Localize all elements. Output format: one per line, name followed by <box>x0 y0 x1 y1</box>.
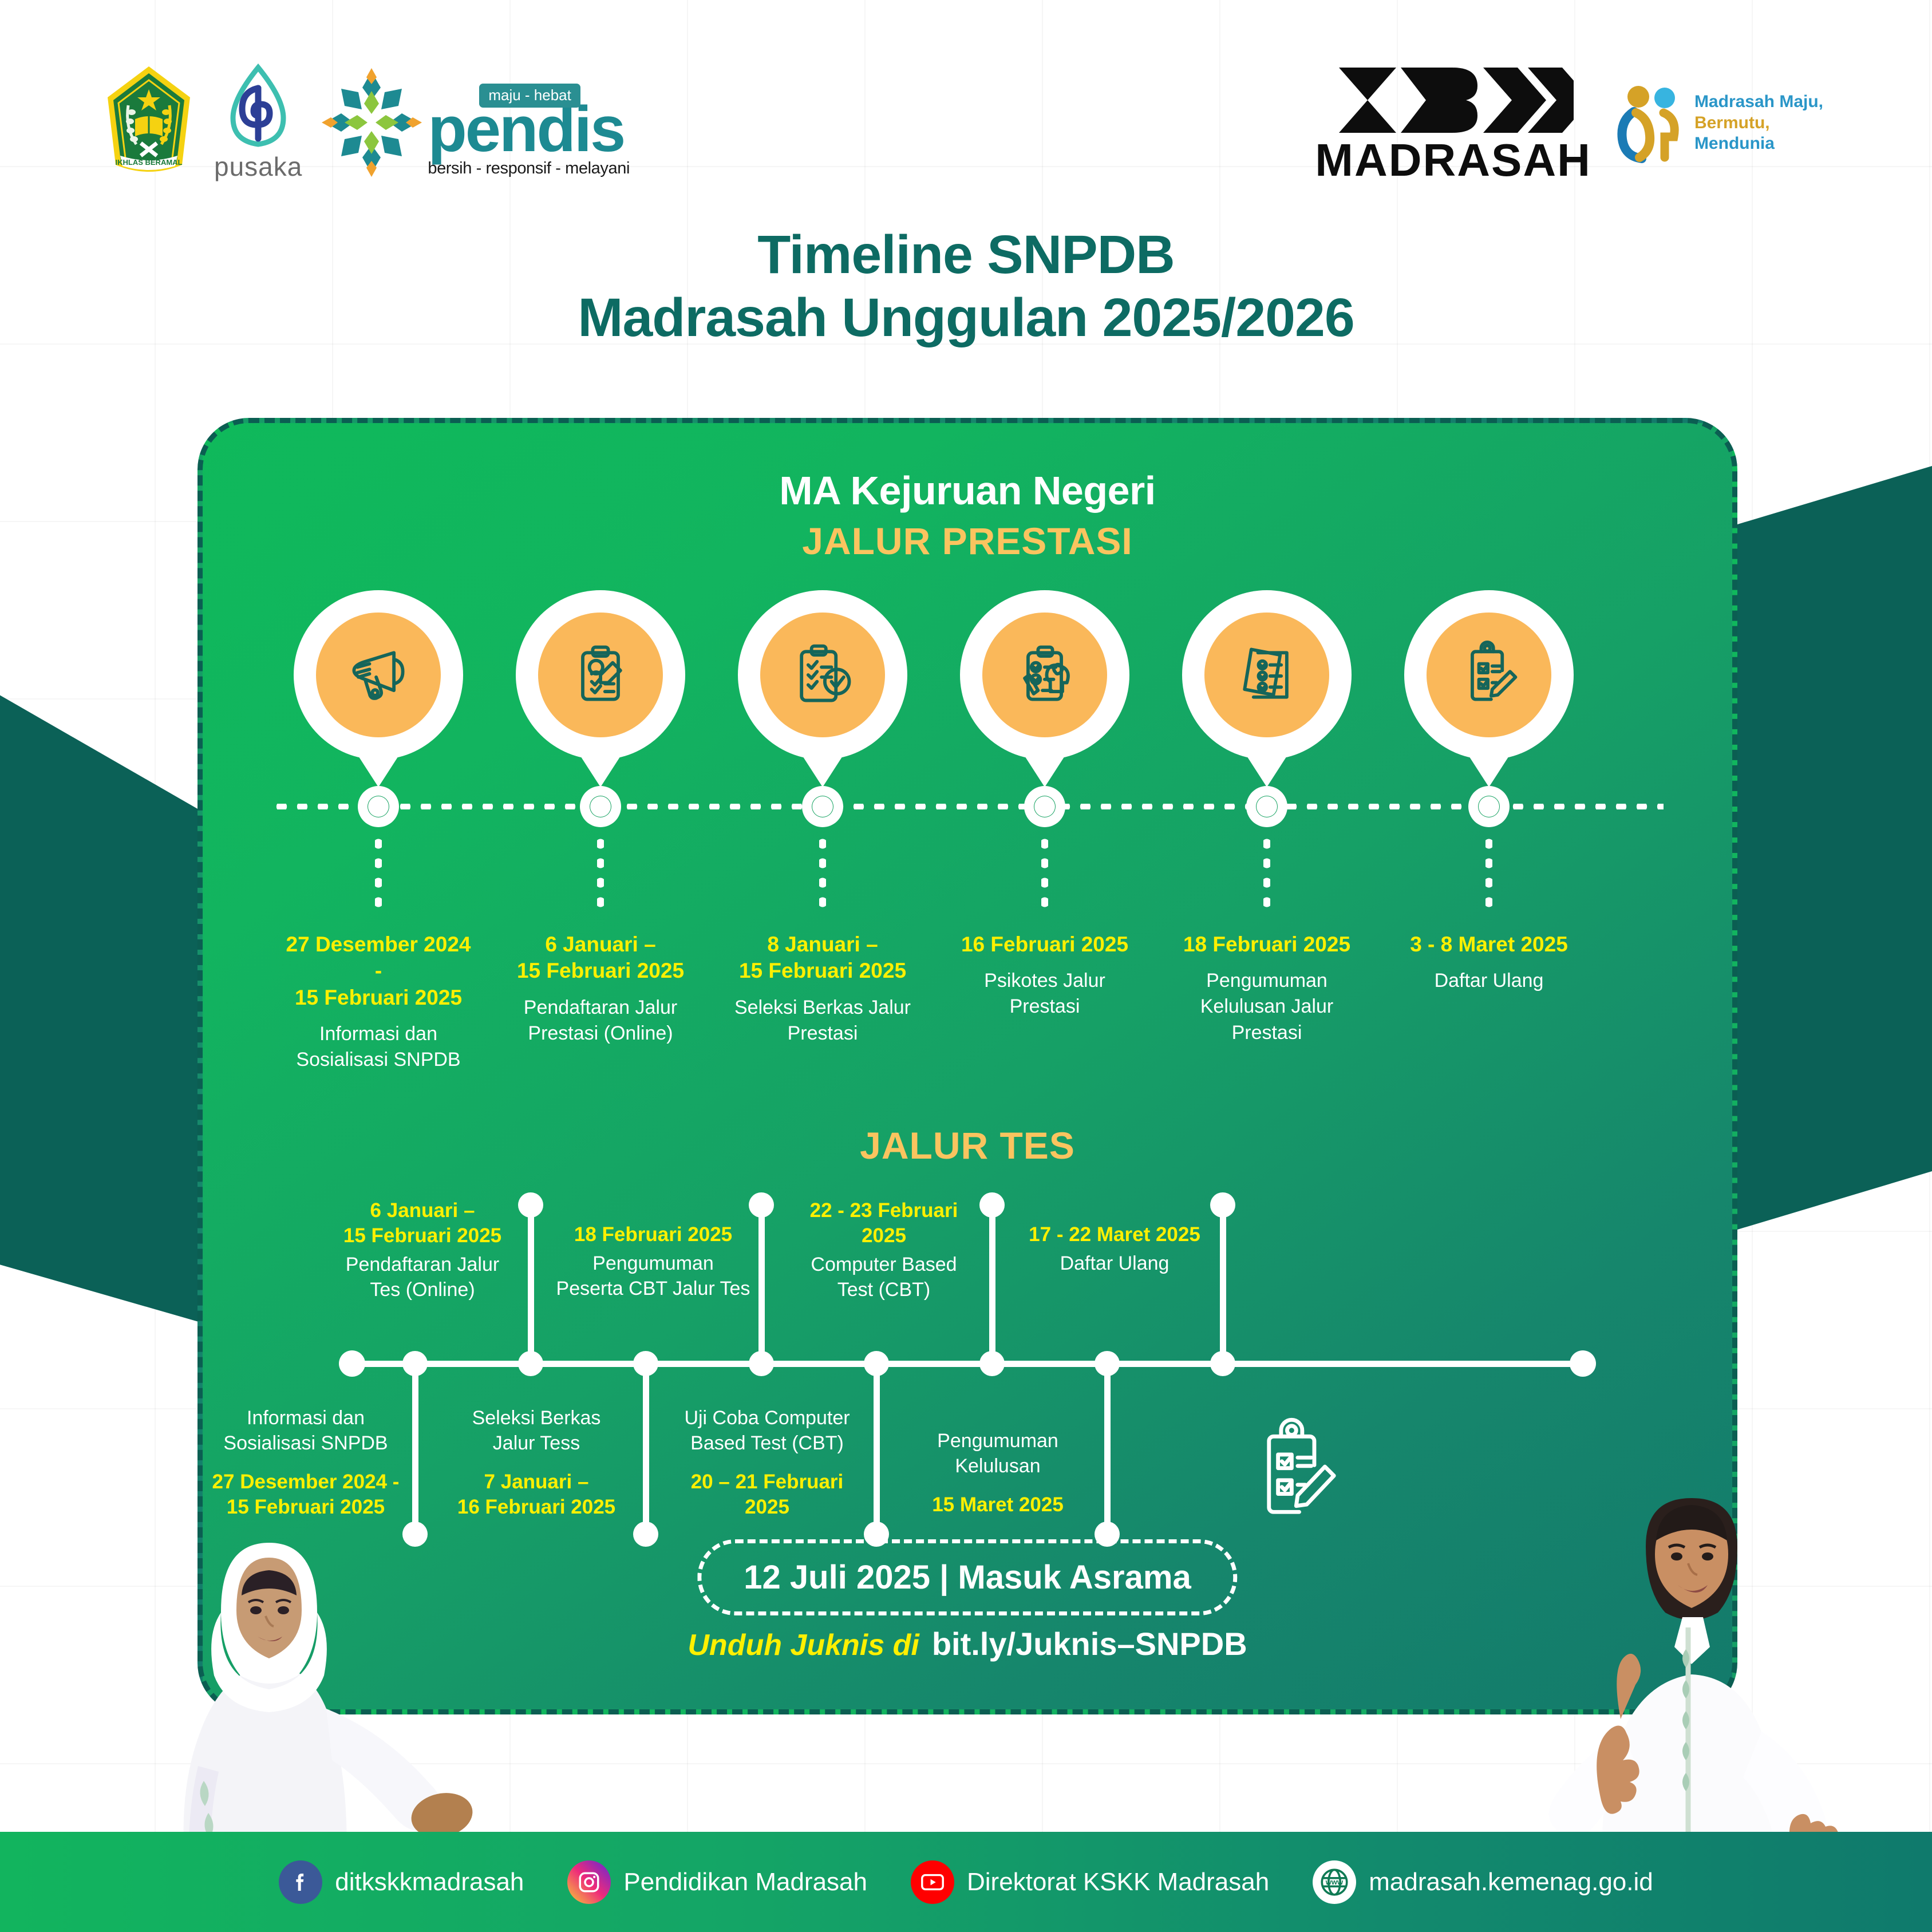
svg-text:IKHLAS BERAMAL: IKHLAS BERAMAL <box>116 158 183 167</box>
track-node-4 <box>1024 786 1065 827</box>
tes-knob-bot-2 <box>633 1522 658 1547</box>
prestasi-label-5: 18 Februari 2025 PengumumanKelulusan Jal… <box>1172 931 1361 1046</box>
prestasi-pin-3 <box>737 590 908 760</box>
tes-axis-node-6 <box>979 1351 1005 1376</box>
prestasi-pin-2 <box>515 590 686 760</box>
tes-axis-node-3 <box>633 1351 658 1376</box>
prestasi-date-3: 8 Januari –15 Februari 2025 <box>728 931 917 985</box>
juknis-line: Unduh Juknis di bit.ly/Juknis–SNPDB <box>688 1625 1247 1662</box>
tes-heading: JALUR TES <box>203 1124 1732 1167</box>
website-icon[interactable]: www <box>1313 1860 1356 1904</box>
tes-axis-node-2 <box>518 1351 543 1376</box>
madrasah-maju-logo: Madrasah Maju, Bermutu, Mendunia <box>1617 83 1823 163</box>
prestasi-label-4: 16 Februari 2025 Psikotes JalurPrestasi <box>950 931 1139 1020</box>
track-node-1 <box>358 786 399 827</box>
pusaka-logo: pusaka <box>214 63 302 182</box>
tes-bot-date-3: 20 – 21 Februari2025 <box>653 1469 882 1520</box>
track-dotted-line <box>271 804 1664 809</box>
svg-text:www: www <box>1325 1877 1344 1886</box>
tes-end-icon-wrap <box>1244 1417 1342 1528</box>
prestasi-date-5: 18 Februari 2025 <box>1172 931 1361 958</box>
tes-top-date-1: 6 Januari –15 Februari 2025 <box>308 1198 537 1249</box>
footer-item-instagram[interactable]: Pendidikan Madrasah <box>567 1860 867 1904</box>
header: IKHLAS BERAMAL pusaka <box>0 0 1932 206</box>
tes-top-desc-2: PengumumanPeserta CBT Jalur Tes <box>539 1251 768 1301</box>
track-node-2 <box>580 786 621 827</box>
card-heading: MA Kejuruan Negeri JALUR PRESTASI <box>203 423 1732 563</box>
facebook-icon[interactable] <box>279 1860 322 1904</box>
card-heading-main: MA Kejuruan Negeri <box>203 468 1732 513</box>
tes-top-date-3: 22 - 23 Februari2025 <box>769 1198 998 1249</box>
prestasi-pins <box>203 590 1732 779</box>
clipboard-pencil-icon <box>1244 1417 1342 1526</box>
masuk-asrama-badge: 12 Juli 2025 | Masuk Asrama <box>697 1539 1237 1615</box>
track-node-6 <box>1468 786 1510 827</box>
header-logos-right: MADRASAH Madrasah Maju, Bermutu, Menduni… <box>1315 63 1823 183</box>
tes-axis-node-1 <box>402 1351 428 1376</box>
tes-axis-node-4 <box>749 1351 774 1376</box>
tes-top-text-3: 22 - 23 Februari2025 Computer BasedTest … <box>769 1198 998 1303</box>
footer-label-youtube: Direktorat KSKK Madrasah <box>967 1868 1269 1897</box>
pendis-ornament-icon <box>322 68 422 177</box>
prestasi-date-6: 3 - 8 Maret 2025 <box>1394 931 1583 958</box>
prestasi-desc-5: PengumumanKelulusan JalurPrestasi <box>1172 968 1361 1046</box>
prestasi-pin-5 <box>1181 590 1353 760</box>
tes-axis-node-7 <box>1095 1351 1120 1376</box>
track-node-5 <box>1246 786 1287 827</box>
prestasi-date-4: 16 Februari 2025 <box>950 931 1139 958</box>
track-vdots-5 <box>1263 834 1270 908</box>
pendis-wordmark: pendis <box>428 102 630 157</box>
page-title-line2: Madrasah Unggulan 2025/2026 <box>0 286 1932 349</box>
prestasi-desc-4: Psikotes JalurPrestasi <box>950 968 1139 1020</box>
registration-form-icon <box>565 639 636 710</box>
card-heading-sub: JALUR PRESTASI <box>203 519 1732 563</box>
tes-top-date-4: 17 - 22 Maret 2025 <box>1000 1222 1229 1247</box>
prestasi-pin-4 <box>959 590 1131 760</box>
track-vdots-1 <box>375 834 382 908</box>
prestasi-label-2: 6 Januari –15 Februari 2025 Pendaftaran … <box>506 931 695 1046</box>
prestasi-track <box>203 779 1732 928</box>
tes-top-desc-3: Computer BasedTest (CBT) <box>769 1252 998 1302</box>
pendis-logo: maju - hebat pendis bersih - responsif -… <box>322 68 630 177</box>
prestasi-desc-3: Seleksi Berkas JalurPrestasi <box>728 995 917 1046</box>
prestasi-date-2: 6 Januari –15 Februari 2025 <box>506 931 695 985</box>
madrasah-logo: MADRASAH <box>1315 63 1591 183</box>
tes-top-desc-4: Daftar Ulang <box>1000 1251 1229 1276</box>
pendis-tagline: bersih - responsif - melayani <box>428 160 630 177</box>
prestasi-label-6: 3 - 8 Maret 2025 Daftar Ulang <box>1394 931 1583 994</box>
mmbm-line2: Bermutu, <box>1694 113 1823 134</box>
tes-bot-desc-2: Seleksi BerkasJalur Tess <box>422 1405 651 1456</box>
prestasi-date-1: 27 Desember 2024 -15 Februari 2025 <box>284 931 473 1011</box>
prestasi-label-1: 27 Desember 2024 -15 Februari 2025 Infor… <box>284 931 473 1073</box>
pendis-badge: maju - hebat <box>479 84 580 108</box>
tes-bot-text-4: PengumumanKelulusan 15 Maret 2025 <box>883 1428 1112 1518</box>
prestasi-desc-1: Informasi danSosialisasi SNPDB <box>284 1021 473 1073</box>
track-vdots-2 <box>597 834 604 908</box>
prestasi-pin-6 <box>1403 590 1575 760</box>
tes-bot-desc-3: Uji Coba ComputerBased Test (CBT) <box>653 1405 882 1456</box>
tes-bot-date-4: 15 Maret 2025 <box>883 1492 1112 1518</box>
tes-top-text-1: 6 Januari –15 Februari 2025 Pendaftaran … <box>308 1198 537 1303</box>
prestasi-labels: 27 Desember 2024 -15 Februari 2025 Infor… <box>203 931 1732 1120</box>
header-logos-left: IKHLAS BERAMAL pusaka <box>103 63 630 182</box>
madrasah-wordmark: MADRASAH <box>1315 137 1591 183</box>
footer-item-facebook[interactable]: ditkskkmadrasah <box>279 1860 524 1904</box>
instagram-icon[interactable] <box>567 1860 611 1904</box>
tes-bot-text-3: Uji Coba ComputerBased Test (CBT) 20 – 2… <box>653 1405 882 1520</box>
prestasi-label-3: 8 Januari –15 Februari 2025 Seleksi Berk… <box>728 931 917 1046</box>
madrasah-chevron-icon <box>1333 63 1574 137</box>
mmbm-line1: Madrasah Maju, <box>1694 92 1823 113</box>
tes-top-desc-1: Pendaftaran JalurTes (Online) <box>308 1252 537 1302</box>
track-vdots-4 <box>1041 834 1048 908</box>
tes-axis-node-8 <box>1210 1351 1235 1376</box>
tes-axis-node-5 <box>864 1351 889 1376</box>
tes-axis-cap-right <box>1570 1350 1596 1377</box>
tes-top-text-4: 17 - 22 Maret 2025 Daftar Ulang <box>1000 1222 1229 1276</box>
youtube-icon[interactable] <box>911 1860 954 1904</box>
tes-axis-cap-left <box>339 1350 365 1377</box>
tes-top-text-2: 18 Februari 2025 PengumumanPeserta CBT J… <box>539 1222 768 1301</box>
people-icon <box>1617 83 1685 163</box>
mmbm-line3: Mendunia <box>1694 133 1823 155</box>
juknis-link[interactable]: bit.ly/Juknis–SNPDB <box>932 1625 1247 1662</box>
tes-bot-desc-4: PengumumanKelulusan <box>883 1428 1112 1479</box>
page-title: Timeline SNPDB Madrasah Unggulan 2025/20… <box>0 223 1932 349</box>
prestasi-desc-2: Pendaftaran JalurPrestasi (Online) <box>506 995 695 1046</box>
track-vdots-3 <box>819 834 826 908</box>
track-vdots-6 <box>1485 834 1492 908</box>
social-footer: ditkskkmadrasah Pendidikan Madrasah Dire… <box>0 1832 1932 1932</box>
prestasi-desc-6: Daftar Ulang <box>1394 968 1583 994</box>
kemenag-logo: IKHLAS BERAMAL <box>103 64 195 181</box>
juknis-prefix: Unduh Juknis di <box>688 1628 919 1662</box>
footer-label-facebook: ditkskkmadrasah <box>335 1868 524 1897</box>
prestasi-pin-1 <box>293 590 464 760</box>
footer-item-youtube[interactable]: Direktorat KSKK Madrasah <box>911 1860 1269 1904</box>
tes-knob-top-4 <box>1210 1192 1235 1218</box>
footer-label-website: madrasah.kemenag.go.id <box>1369 1868 1653 1897</box>
megaphone-icon <box>343 639 414 710</box>
masuk-asrama-text: 12 Juli 2025 | Masuk Asrama <box>744 1558 1191 1597</box>
tes-top-date-2: 18 Februari 2025 <box>539 1222 768 1247</box>
documents-result-icon <box>1231 639 1302 710</box>
page-title-line1: Timeline SNPDB <box>0 223 1932 286</box>
clipboard-pencil-icon <box>1453 639 1524 710</box>
footer-label-instagram: Pendidikan Madrasah <box>623 1868 867 1897</box>
checklist-approved-icon <box>787 639 858 710</box>
tes-bot-desc-1: Informasi danSosialisasi SNPDB <box>197 1405 420 1456</box>
footer-item-website[interactable]: www madrasah.kemenag.go.id <box>1313 1860 1653 1904</box>
pusaka-label: pusaka <box>214 151 302 182</box>
track-node-3 <box>802 786 843 827</box>
psychology-test-icon <box>1009 639 1080 710</box>
